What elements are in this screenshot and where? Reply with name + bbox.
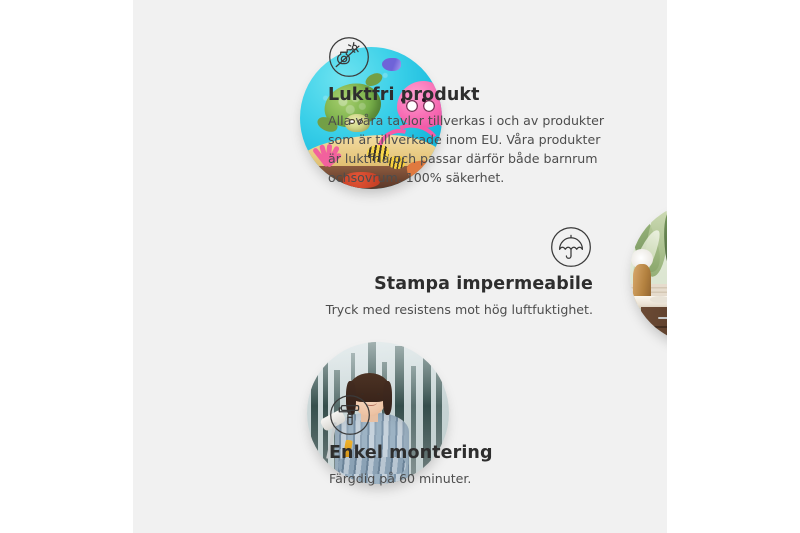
drawer-seam: [641, 326, 667, 328]
feature-body: Tryck med resistens mot hög luftfuktighe…: [288, 300, 593, 319]
paint-roller-icon: [329, 394, 371, 436]
soap-dish: [650, 296, 667, 303]
feature-title: Luktfri produkt: [328, 85, 628, 107]
wood-vanity: [641, 307, 667, 344]
bathroom-tropical-wallpaper-photo: [630, 202, 667, 344]
bathroom-scene: [630, 202, 667, 344]
feature-title: Enkel montering: [329, 443, 619, 465]
feature-title: Stampa impermeabile: [288, 274, 593, 296]
content-panel: Luktfri produkt Alla våra tavlor tillver…: [133, 0, 667, 533]
feature-waterproof: Stampa impermeabile Tryck med resistens …: [288, 226, 593, 319]
umbrella-icon: [550, 226, 592, 268]
feature-body: Alla våra tavlor tillverkas i och av pro…: [328, 111, 616, 188]
feature-odourless: Luktfri produkt Alla våra tavlor tillver…: [328, 36, 628, 187]
feature-body: Färgdig på 60 minuter.: [329, 469, 619, 488]
no-odour-spray-bottle-icon: [328, 36, 370, 78]
feature-assembly: Enkel montering Färgdig på 60 minuter.: [329, 394, 619, 488]
promo-infographic: Luktfri produkt Alla våra tavlor tillver…: [0, 0, 800, 533]
